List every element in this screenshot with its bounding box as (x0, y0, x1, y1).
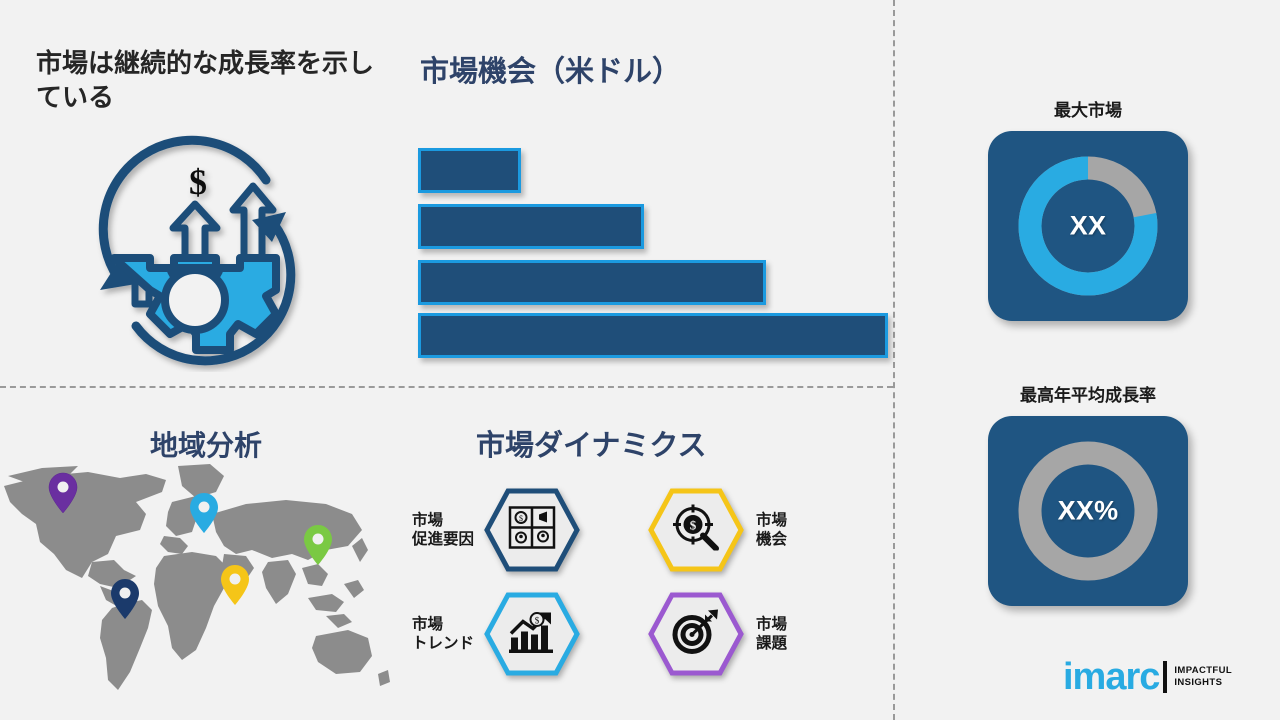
world-map (0, 458, 396, 698)
hexagon-opportunities: $ (648, 488, 744, 572)
slide-canvas: 市場は継続的な成長率を示している $ (0, 0, 1280, 720)
dynamics-title: 市場ダイナミクス (476, 422, 707, 464)
bar-value-4 (418, 313, 888, 358)
pin-north-america (48, 472, 78, 519)
dynamics-item-opportunities[interactable]: $ 市場 機会 (648, 488, 787, 572)
growth-gear-icon: $ (70, 128, 320, 372)
metric-title: 最高年平均成長率 (958, 381, 1218, 406)
growth-title: 市場は継続的な成長率を示している (36, 46, 381, 115)
metric-card: XX (988, 131, 1188, 321)
hexagon-challenges (648, 592, 744, 676)
vertical-divider (893, 0, 895, 720)
horizontal-divider (0, 386, 893, 388)
pin-east-asia (303, 524, 333, 571)
bar-value-1 (418, 148, 521, 193)
metric-largest-market: 最大市場 XX (958, 96, 1218, 321)
pin-middle-east-africa (220, 564, 250, 611)
dynamics-item-label: 市場 促進要因 (412, 511, 474, 550)
hexagon-trends: $ (484, 592, 580, 676)
svg-text:$: $ (690, 518, 697, 533)
svg-text:$: $ (189, 162, 207, 202)
bar-row (418, 148, 888, 193)
bar-row (418, 260, 888, 305)
metric-value: XX% (1058, 496, 1119, 527)
svg-text:$: $ (519, 514, 523, 523)
opportunity-title: 市場機会（米ドル） (420, 48, 870, 90)
bar-value-3 (418, 260, 766, 305)
target-arrow-icon (672, 609, 720, 660)
pin-europe (189, 492, 219, 539)
metric-card: XX% (988, 416, 1188, 606)
bar-value-2 (418, 204, 644, 249)
metric-highest-cagr: 最高年平均成長率 XX% (958, 381, 1218, 606)
dynamics-item-challenges[interactable]: 市場 課題 (648, 592, 787, 676)
opportunity-bar-chart (418, 140, 888, 355)
dynamics-item-trends[interactable]: 市場 トレンド $ (412, 592, 580, 676)
bar-row (418, 204, 888, 249)
brand-logo: imarc IMPACTFUL INSIGHTS (1063, 658, 1232, 696)
brand-tagline: IMPACTFUL INSIGHTS (1174, 665, 1232, 689)
bar-chart-arrow-icon: $ (507, 610, 557, 659)
puzzle-pieces-icon: $ (508, 506, 556, 555)
hexagon-drivers: $ (484, 488, 580, 572)
dynamics-item-drivers[interactable]: 市場 促進要因 $ (412, 488, 580, 572)
brand-wordmark: imarc (1063, 658, 1159, 696)
dynamics-item-label: 市場 課題 (756, 615, 787, 654)
pin-south-america (110, 578, 140, 625)
bar-row (418, 313, 888, 358)
dynamics-item-label: 市場 機会 (756, 511, 787, 550)
svg-text:$: $ (535, 616, 540, 626)
dynamics-item-label: 市場 トレンド (412, 615, 474, 654)
brand-divider (1163, 661, 1167, 693)
metric-value: XX (1070, 211, 1107, 242)
magnifier-dollar-icon: $ (672, 505, 720, 556)
metric-title: 最大市場 (958, 96, 1218, 121)
